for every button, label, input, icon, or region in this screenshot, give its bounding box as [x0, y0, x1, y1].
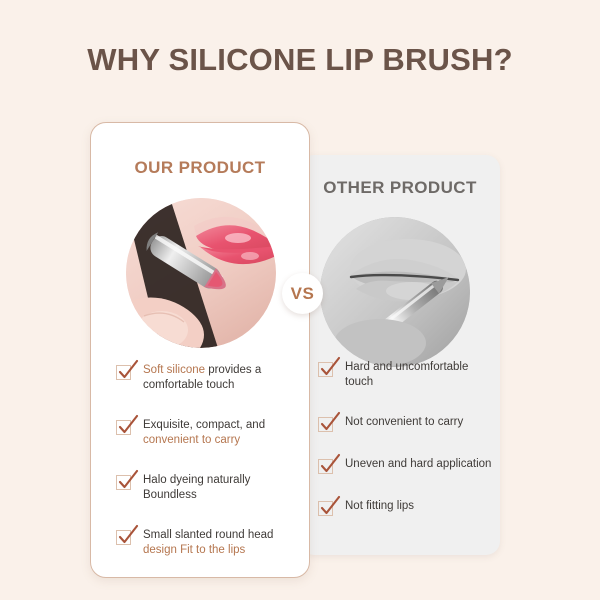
other-product-card: OTHER PRODUCT [300, 155, 500, 555]
checkmark-icon [318, 417, 333, 432]
vs-badge: VS [282, 273, 323, 314]
our-product-heading: OUR PRODUCT [91, 158, 309, 178]
page-title: WHY SILICONE LIP BRUSH? [0, 42, 600, 78]
feature-item: Uneven and hard application [300, 457, 500, 474]
our-product-photo [126, 198, 276, 348]
feature-text: Small slanted round head design Fit to t… [143, 528, 293, 558]
checkmark-icon [116, 365, 131, 380]
our-product-feature-list: Soft silicone provides a comfortable tou… [91, 363, 309, 583]
other-product-photo [320, 217, 470, 367]
feature-text: Exquisite, compact, and convenient to ca… [143, 418, 293, 448]
checkmark-icon [116, 530, 131, 545]
other-product-heading: OTHER PRODUCT [300, 178, 500, 198]
feature-text: Not fitting lips [345, 499, 414, 514]
feature-item: Halo dyeing naturally Boundless [91, 473, 309, 503]
feature-item: Not convenient to carry [300, 415, 500, 432]
feature-item: Exquisite, compact, and convenient to ca… [91, 418, 309, 448]
feature-text: Hard and uncomfortable touch [345, 360, 495, 390]
feature-item: Small slanted round head design Fit to t… [91, 528, 309, 558]
feature-item: Not fitting lips [300, 499, 500, 516]
checkmark-icon [116, 420, 131, 435]
our-product-card: OUR PRODUCT [90, 122, 310, 578]
checkmark-icon [318, 362, 333, 377]
feature-text: Uneven and hard application [345, 457, 491, 472]
other-product-feature-list: Hard and uncomfortable touch Not conveni… [300, 360, 500, 541]
feature-text: Not convenient to carry [345, 415, 463, 430]
feature-item: Hard and uncomfortable touch [300, 360, 500, 390]
feature-item: Soft silicone provides a comfortable tou… [91, 363, 309, 393]
checkmark-icon [116, 475, 131, 490]
checkmark-icon [318, 501, 333, 516]
feature-text: Halo dyeing naturally Boundless [143, 473, 293, 503]
checkmark-icon [318, 459, 333, 474]
feature-text: Soft silicone provides a comfortable tou… [143, 363, 293, 393]
